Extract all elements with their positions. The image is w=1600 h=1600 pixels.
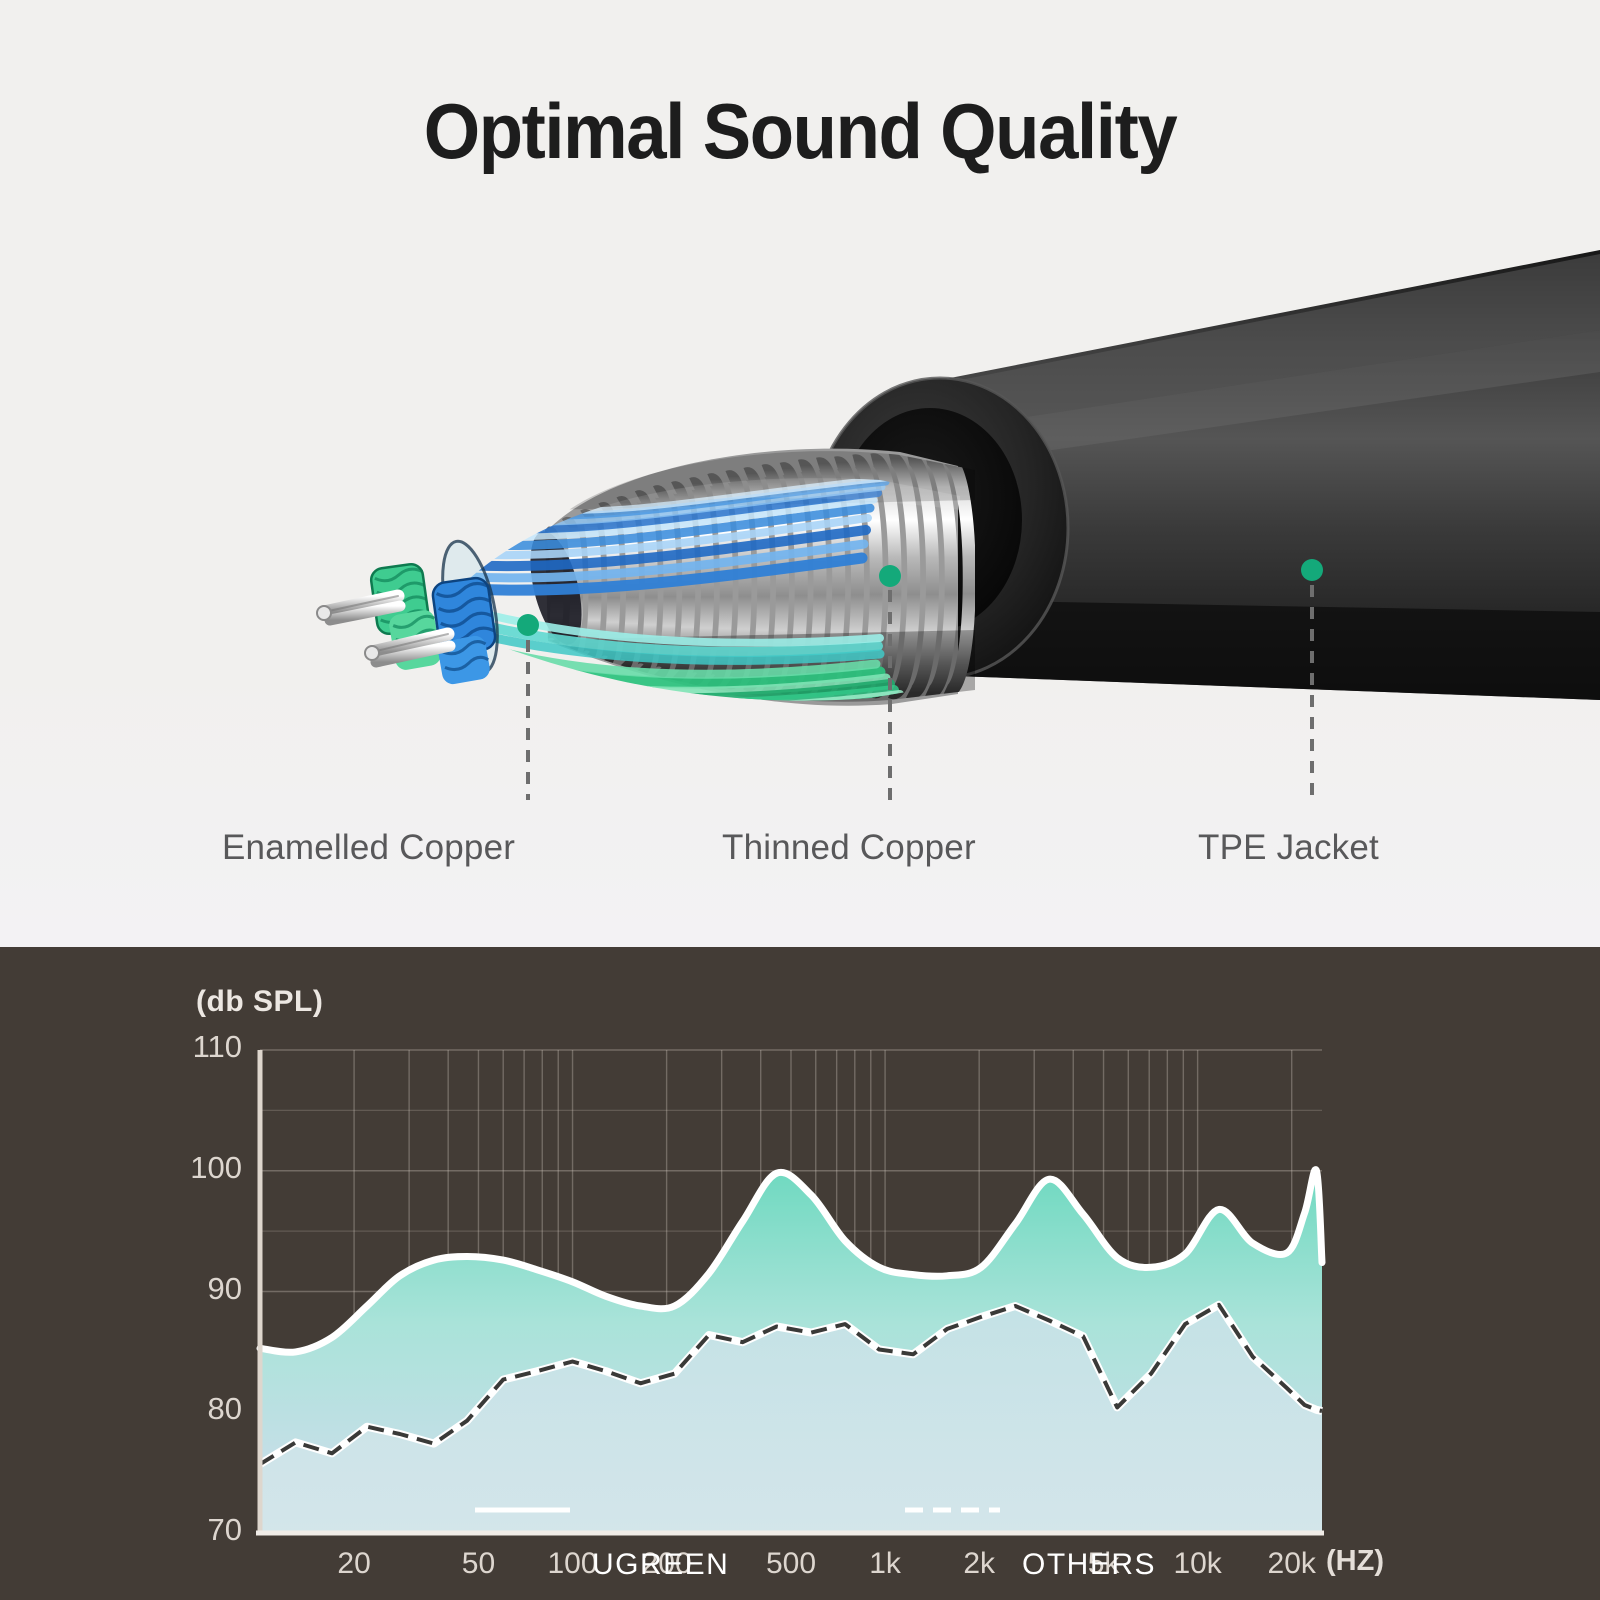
y-tick-110: 110 <box>172 1029 242 1065</box>
y-tick-100: 100 <box>172 1150 242 1186</box>
x-tick-1k: 1k <box>869 1547 901 1581</box>
x-tick-100: 100 <box>548 1547 598 1581</box>
y-tick-70: 70 <box>172 1512 242 1548</box>
x-tick-500: 500 <box>766 1547 816 1581</box>
y-tick-90: 90 <box>172 1271 242 1307</box>
callout-label-tpe-jacket: TPE Jacket <box>1198 828 1379 868</box>
x-axis-unit-label: (HZ) <box>1326 1545 1384 1578</box>
enamelled-copper-strands <box>317 563 497 686</box>
x-tick-2k: 2k <box>963 1547 995 1581</box>
callout-dot-enamelled-copper <box>517 614 539 636</box>
y-axis-unit-label: (db SPL) <box>196 985 323 1019</box>
y-tick-80: 80 <box>172 1391 242 1427</box>
cable-cutaway-illustration <box>0 0 1600 947</box>
callout-label-thinned-copper: Thinned Copper <box>722 828 976 868</box>
hero-panel: Optimal Sound Quality <box>0 0 1600 947</box>
legend-label-ugreen: UGREEN <box>592 1548 729 1582</box>
x-tick-20k: 20k <box>1268 1547 1316 1581</box>
callout-dot-thinned-copper <box>879 565 901 587</box>
callout-label-enamelled-copper: Enamelled Copper <box>222 828 515 868</box>
x-tick-50: 50 <box>462 1547 495 1581</box>
x-tick-10k: 10k <box>1173 1547 1221 1581</box>
callout-dot-tpe-jacket <box>1301 559 1323 581</box>
legend-label-others: OTHERS <box>1022 1548 1156 1582</box>
x-tick-20: 20 <box>337 1547 370 1581</box>
product-infographic: Optimal Sound Quality <box>0 0 1600 1600</box>
